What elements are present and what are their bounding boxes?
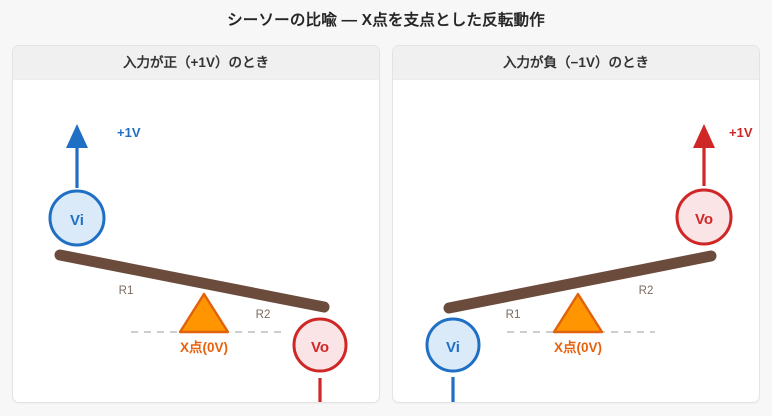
seesaw-beam [60, 255, 324, 307]
node-vi: Vi [427, 319, 479, 371]
resistor-label-r2: R2 [639, 285, 654, 297]
input-voltage-label: +1V [117, 125, 141, 140]
seesaw-diagram-positive: R1 R2 X点(0V) +1V Vi [13, 80, 379, 403]
node-vi-label: Vi [446, 339, 460, 356]
node-vo-label: Vo [311, 339, 329, 356]
fulcrum-triangle [554, 294, 602, 332]
node-vo: Vo [677, 190, 731, 244]
panel-negative-input: 入力が負（−1V）のとき R1 R2 X点(0V) [392, 45, 760, 403]
resistor-label-r1: R1 [119, 285, 134, 297]
node-vo: Vo [294, 319, 346, 371]
panel-positive-input: 入力が正（+1V）のとき R1 R2 X点(0V) [12, 45, 380, 403]
panel-header-positive-input: 入力が正（+1V）のとき [13, 46, 379, 80]
input-arrow-head [66, 124, 88, 148]
input-arrow-down-icon [442, 377, 464, 403]
seesaw-analogy-figure: シーソーの比喩 — X点を支点とした反転動作 入力が正（+1V）のとき R1 R… [0, 0, 772, 416]
fulcrum-label: X点(0V) [554, 339, 602, 355]
panel-body-positive-input: R1 R2 X点(0V) +1V Vi [13, 80, 379, 403]
panel-header-negative-input: 入力が負（−1V）のとき [393, 46, 759, 80]
output-voltage-label: +1V [729, 125, 753, 140]
panel-container: 入力が正（+1V）のとき R1 R2 X点(0V) [12, 45, 760, 405]
output-arrow-up-icon [693, 124, 715, 186]
node-vi-label: Vi [70, 212, 84, 229]
resistor-label-r1: R1 [506, 309, 521, 321]
node-vi: Vi [50, 191, 104, 245]
fulcrum-triangle [180, 294, 228, 332]
panel-body-negative-input: R1 R2 X点(0V) +1V Vo [393, 80, 759, 403]
output-arrow-down-icon [309, 378, 331, 403]
output-arrow-head [693, 124, 715, 148]
resistor-label-r2: R2 [256, 309, 271, 321]
input-arrow-up-icon [66, 124, 88, 188]
fulcrum-label: X点(0V) [180, 339, 228, 355]
page-title: シーソーの比喩 — X点を支点とした反転動作 [0, 8, 772, 30]
node-vo-label: Vo [695, 211, 713, 228]
seesaw-diagram-negative: R1 R2 X点(0V) +1V Vo [393, 80, 759, 403]
